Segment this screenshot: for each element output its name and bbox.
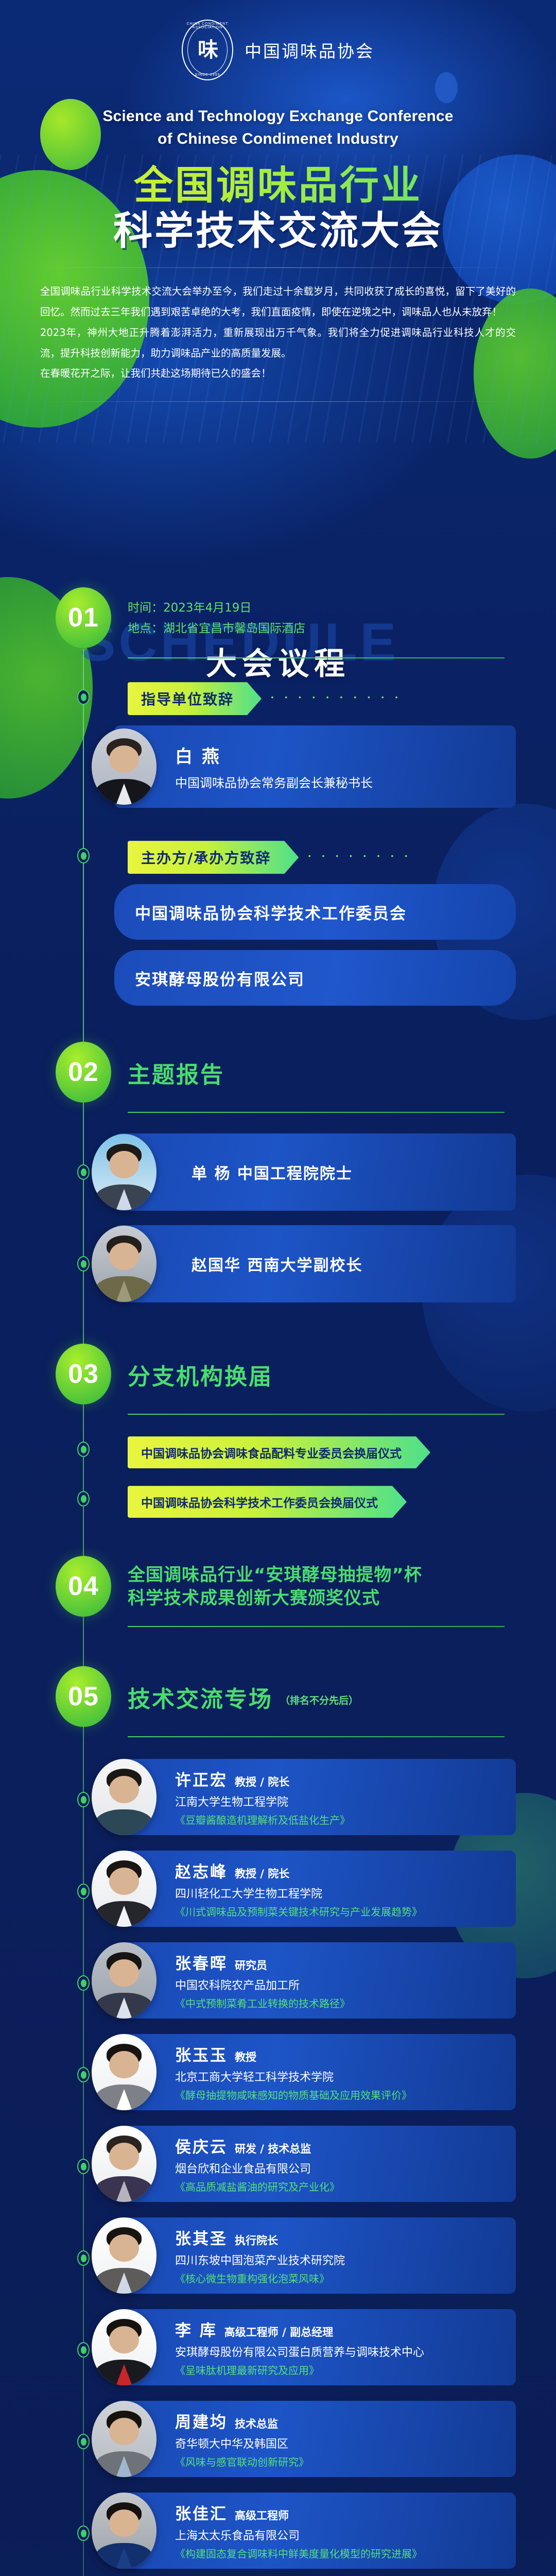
- speaker-name: 张佳汇: [175, 2501, 228, 2524]
- section-02-title: 主题报告: [128, 1056, 224, 1089]
- seal-bottom-text: SINCE 1995: [183, 73, 232, 77]
- speaker-row: 赵志峰教授 / 院长 四川轻化工大学生物工程学院 《川式调味品及预制菜关键技术研…: [0, 1851, 556, 1927]
- speaker-row: 许正宏教授 / 院长 江南大学生物工程学院 《豆瓣酱酿造机理解析及低盐化生产》: [0, 1759, 556, 1835]
- timeline-dot: [77, 689, 90, 705]
- speaker-row: 张玉玉教授 北京工商大学轻工科学技术学院 《酵母抽提物咸味感知的物质基础及应用效…: [0, 2034, 556, 2110]
- speaker-org: 奇华顿大中华及韩国区: [175, 2435, 309, 2451]
- timeline-dot: [77, 2342, 90, 2358]
- speaker-name: 张春晖: [175, 1951, 228, 1974]
- english-title-line1: Science and Technology Exchange Conferen…: [0, 105, 556, 128]
- speaker-row: 张其圣执行院长 四川东坡中国泡菜产业技术研究院 《核心微生物重构强化泡菜风味》: [0, 2217, 556, 2294]
- conference-time: 时间：2023年4月19日: [128, 598, 305, 618]
- speaker-row: 侯庆云研发 / 技术总监 烟台欣和企业食品有限公司 《高品质减盐酱油的研究及产业…: [0, 2126, 556, 2202]
- section-number-badge-03: 03: [56, 1344, 111, 1404]
- section-number-badge-04: 04: [56, 1556, 111, 1617]
- speaker-name: 张其圣: [175, 2226, 228, 2249]
- speaker-role: 教授 / 院长: [235, 1774, 289, 1789]
- speaker-role: 研发 / 技术总监: [235, 2141, 311, 2156]
- timeline-dot: [77, 1975, 90, 1991]
- branch-item-1[interactable]: 中国调味品协会调味食品配料专业委员会换届仪式: [128, 1436, 430, 1468]
- section-03-head: 03 分支机构换届: [0, 1344, 556, 1405]
- speaker-topic: 《风味与感官联动创新研究》: [175, 2454, 309, 2469]
- schedule-banner-spacer: [0, 429, 556, 527]
- speaker-topic: 《豆瓣酱酿造机理解析及低盐化生产》: [175, 1812, 350, 1827]
- agenda-timeline: 01 时间：2023年4月19日 地点：湖北省宜昌市馨岛国际酒店 指导单位致辞 …: [0, 587, 556, 2576]
- keynote-2-wrap: 赵国华 西南大学副校长: [0, 1225, 556, 1302]
- section-number-badge-01: 01: [56, 587, 111, 648]
- divider-intro-bottom: [36, 401, 520, 402]
- intro-paragraph-1: 全国调味品行业科学技术交流大会举办至今，我们走过十余载岁月，共同收获了成长的喜悦…: [40, 281, 516, 323]
- avatar: [92, 1942, 157, 2019]
- speaker-card-zhang-jiahui[interactable]: 张佳汇高级工程师 上海太太乐食品有限公司 《构建固态复合调味料中鲜美度量化模型的…: [114, 2493, 516, 2569]
- divider-top: [36, 267, 520, 268]
- speaker-info: 白 燕 中国调味品协会常务副会长兼秘书长: [175, 742, 373, 791]
- seal-glyph: 味: [198, 40, 217, 60]
- speaker-topic: 《酵母抽提物咸味感知的物质基础及应用效果评价》: [175, 2087, 412, 2102]
- section-05-head: 05 技术交流专场（排名不分先后）: [0, 1666, 556, 1728]
- speaker-org: 北京工商大学轻工科学技术学院: [175, 2068, 412, 2084]
- section-01-group-2: 主办方/承办方致辞 • • • • • • • • 中国调味品协会科学技术工作委…: [0, 841, 556, 1006]
- main-title-line2: 科学技术交流大会: [0, 207, 556, 254]
- section-01-head: 01 时间：2023年4月19日 地点：湖北省宜昌市馨岛国际酒店: [0, 587, 556, 649]
- timeline-dot: [77, 2434, 90, 2449]
- host-speech-label[interactable]: 主办方/承办方致辞: [128, 841, 299, 874]
- speaker-card-zhao-zhifeng[interactable]: 赵志峰教授 / 院长 四川轻化工大学生物工程学院 《川式调味品及预制菜关键技术研…: [114, 1851, 516, 1927]
- speaker-name: 张玉玉: [175, 2042, 228, 2065]
- speaker-card-hou-qingyun[interactable]: 侯庆云研发 / 技术总监 烟台欣和企业食品有限公司 《高品质减盐酱油的研究及产业…: [114, 2126, 516, 2202]
- main-title-line1: 全国调味品行业: [0, 163, 556, 207]
- speaker-role: 教授 / 院长: [235, 1866, 289, 1881]
- section-01-meta: 时间：2023年4月19日 地点：湖北省宜昌市馨岛国际酒店: [128, 598, 305, 639]
- section-04-head: 04 全国调味品行业“安琪酵母抽提物”杯 科学技术成果创新大赛颁奖仪式: [0, 1556, 556, 1618]
- intro-paragraph-3: 在春暖花开之际，让我们共赴这场期待已久的盛会！: [40, 363, 516, 384]
- branch-item-2-wrap: 中国调味品协会科学技术工作委员会换届仪式: [0, 1486, 556, 1518]
- speaker-role: 研究员: [235, 1957, 267, 1973]
- branch-item-1-wrap: 中国调味品协会调味食品配料专业委员会换届仪式: [0, 1436, 556, 1468]
- timeline-dot: [77, 1884, 90, 1899]
- speaker-org: 上海太太乐食品有限公司: [175, 2527, 422, 2543]
- speaker-card-xu-zhenghong[interactable]: 许正宏教授 / 院长 江南大学生物工程学院 《豆瓣酱酿造机理解析及低盐化生产》: [114, 1759, 516, 1835]
- speaker-info: 周建均技术总监 奇华顿大中华及韩国区 《风味与感官联动创新研究》: [175, 2409, 309, 2469]
- section-05-title-wrap: 技术交流专场（排名不分先后）: [128, 1681, 358, 1714]
- section-04-title-line2: 科学技术成果创新大赛颁奖仪式: [128, 1587, 422, 1611]
- speaker-info: 李 库高级工程师 / 副总经理 安琪酵母股份有限公司蛋白质营养与调味技术中心 《…: [175, 2317, 424, 2377]
- english-title-line2: of Chinese Condimenet Industry: [0, 128, 556, 150]
- speaker-card-zhou-jianjun[interactable]: 周建均技术总监 奇华顿大中华及韩国区 《风味与感官联动创新研究》: [114, 2401, 516, 2477]
- section-05-title-note: （排名不分先后）: [280, 1695, 358, 1706]
- keynote-1-wrap: 单 杨 中国工程院院士: [0, 1133, 556, 1211]
- timeline-dot: [77, 2067, 90, 2082]
- speaker-row: 张佳汇高级工程师 上海太太乐食品有限公司 《构建固态复合调味料中鲜美度量化模型的…: [0, 2493, 556, 2569]
- main-title: 全国调味品行业 科学技术交流大会: [0, 163, 556, 254]
- section-01-rule: [128, 657, 505, 658]
- association-name: 中国调味品协会: [245, 38, 374, 62]
- speaker-topic: 《呈味肽机理最新研究及应用》: [175, 2362, 424, 2377]
- avatar: [92, 1851, 157, 1927]
- section-number-badge-05: 05: [56, 1666, 111, 1727]
- speaker-info: 许正宏教授 / 院长 江南大学生物工程学院 《豆瓣酱酿造机理解析及低盐化生产》: [175, 1767, 350, 1827]
- speaker-org: 中国调味品协会常务副会长兼秘书长: [175, 773, 373, 791]
- avatar: [92, 1226, 157, 1302]
- speaker-name: 白 燕: [175, 742, 221, 768]
- keynote-text: 赵国华 西南大学副校长: [192, 1252, 362, 1275]
- speaker-topic: 《核心微生物重构强化泡菜风味》: [175, 2270, 345, 2285]
- speaker-org: 中国农科院农产品加工所: [175, 1976, 350, 1993]
- agenda-section-05: 05 技术交流专场（排名不分先后） 许正宏教授 / 院长 江南大学生物工程学院: [0, 1666, 556, 2576]
- speaker-row: 张春晖研究员 中国农科院农产品加工所 《中式预制菜肴工业转换的技术路径》: [0, 1942, 556, 2019]
- agenda-section-03: 03 分支机构换届 中国调味品协会调味食品配料专业委员会换届仪式 中国调味品协会…: [0, 1344, 556, 1518]
- seal-top-text: CHINA CONDIMENT ASSOCIATION: [183, 22, 232, 29]
- avatar: [92, 2126, 157, 2202]
- avatar: [92, 2493, 157, 2569]
- section-01-group-1: 指导单位致辞 • • • • • • • • • • 白 燕 中国调味品协会常务…: [0, 682, 556, 808]
- host-org-2[interactable]: 安琪酵母股份有限公司: [114, 950, 516, 1006]
- speaker-topic: 《中式预制菜肴工业转换的技术路径》: [175, 1995, 350, 2010]
- keynote-card-zhao-guohua[interactable]: 赵国华 西南大学副校长: [114, 1225, 516, 1302]
- speaker-org: 烟台欣和企业食品有限公司: [175, 2160, 340, 2176]
- speaker-name: 侯庆云: [175, 2134, 228, 2157]
- timeline-dot: [77, 1792, 90, 1807]
- speaker-org: 四川轻化工大学生物工程学院: [175, 1885, 422, 1901]
- avatar: [92, 2401, 157, 2477]
- guidance-speech-label[interactable]: 指导单位致辞: [128, 682, 262, 715]
- timeline-dot: [77, 1164, 90, 1180]
- intro-paragraphs: 全国调味品行业科学技术交流大会举办至今，我们走过十余载岁月，共同收获了成长的喜悦…: [40, 281, 516, 384]
- speaker-info: 张佳汇高级工程师 上海太太乐食品有限公司 《构建固态复合调味料中鲜美度量化模型的…: [175, 2501, 422, 2561]
- speaker-role: 高级工程师 / 副总经理: [224, 2324, 333, 2340]
- timeline-dot: [77, 2250, 90, 2266]
- speaker-card-zhang-qisheng[interactable]: 张其圣执行院长 四川东坡中国泡菜产业技术研究院 《核心微生物重构强化泡菜风味》: [114, 2217, 516, 2294]
- association-seal-icon: CHINA CONDIMENT ASSOCIATION 味 SINCE 1995: [182, 20, 233, 80]
- speaker-topic: 《川式调味品及预制菜关键技术研究与产业发展趋势》: [175, 1904, 422, 1919]
- section-03-rule: [128, 1414, 505, 1415]
- timeline-dot: [77, 1256, 90, 1272]
- branch-item-2[interactable]: 中国调味品协会科学技术工作委员会换届仪式: [128, 1486, 407, 1518]
- keynote-text: 单 杨 中国工程院院士: [192, 1161, 353, 1183]
- timeline-dot: [77, 848, 90, 863]
- agenda-section-04: 04 全国调味品行业“安琪酵母抽提物”杯 科学技术成果创新大赛颁奖仪式: [0, 1556, 556, 1627]
- speaker-name: 许正宏: [175, 1767, 228, 1790]
- speaker-card-li-ku[interactable]: 李 库高级工程师 / 副总经理 安琪酵母股份有限公司蛋白质营养与调味技术中心 《…: [114, 2309, 516, 2385]
- speaker-role: 教授: [235, 2049, 256, 2064]
- conference-location: 地点：湖北省宜昌市馨岛国际酒店: [128, 618, 305, 639]
- speaker-org: 四川东坡中国泡菜产业技术研究院: [175, 2251, 345, 2268]
- speaker-role: 高级工程师: [235, 2507, 289, 2523]
- speaker-name: 李 库: [175, 2317, 217, 2341]
- section-02-rule: [128, 1112, 505, 1113]
- avatar: [92, 2034, 157, 2110]
- section-05-rule: [128, 1736, 505, 1737]
- section-03-title: 分支机构换届: [128, 1358, 273, 1391]
- avatar: [92, 2217, 157, 2294]
- speaker-role: 技术总监: [235, 2416, 278, 2431]
- section-04-title-line1: 全国调味品行业“安琪酵母抽提物”杯: [128, 1564, 422, 1587]
- keynote-card-shan-yang[interactable]: 单 杨 中国工程院院士: [114, 1133, 516, 1211]
- avatar: [92, 1134, 157, 1210]
- speaker-row: 李 库高级工程师 / 副总经理 安琪酵母股份有限公司蛋白质营养与调味技术中心 《…: [0, 2309, 556, 2385]
- association-logo: CHINA CONDIMENT ASSOCIATION 味 SINCE 1995…: [0, 0, 556, 80]
- intro-paragraph-2: 2023年，神州大地正升腾着澎湃活力，重新展现出万千气象。我们将全力促进调味品行…: [40, 323, 516, 364]
- dots-trail: • • • • • • • • • •: [271, 693, 402, 701]
- avatar: [92, 728, 157, 805]
- speaker-org: 江南大学生物工程学院: [175, 1793, 350, 1809]
- timeline-dot: [77, 2526, 90, 2541]
- speaker-topic: 《高品质减盐酱油的研究及产业化》: [175, 2179, 340, 2194]
- section-04-title-wrap: 全国调味品行业“安琪酵母抽提物”杯 科学技术成果创新大赛颁奖仪式: [128, 1564, 422, 1611]
- section-03-title-wrap: 分支机构换届: [128, 1358, 273, 1391]
- section-number-badge-02: 02: [56, 1042, 111, 1103]
- dots-trail: • • • • • • • •: [308, 852, 412, 860]
- avatar: [92, 1759, 157, 1835]
- speaker-card-bai-yan[interactable]: 白 燕 中国调味品协会常务副会长兼秘书长: [114, 725, 516, 808]
- speaker-topic: 《构建固态复合调味料中鲜美度量化模型的研究进展》: [175, 2546, 422, 2561]
- avatar: [92, 2309, 157, 2385]
- speaker-role: 执行院长: [235, 2232, 278, 2248]
- speaker-row: 周建均技术总监 奇华顿大中华及韩国区 《风味与感官联动创新研究》: [0, 2401, 556, 2477]
- speaker-name: 周建均: [175, 2409, 228, 2432]
- section-05-title-text: 技术交流专场: [128, 1686, 273, 1713]
- speaker-info: 张玉玉教授 北京工商大学轻工科学技术学院 《酵母抽提物咸味感知的物质基础及应用效…: [175, 2042, 412, 2102]
- agenda-section-02: 02 主题报告 单 杨 中国工程院院士: [0, 1042, 556, 1302]
- speaker-info: 赵志峰教授 / 院长 四川轻化工大学生物工程学院 《川式调味品及预制菜关键技术研…: [175, 1859, 422, 1919]
- timeline-dot: [77, 1442, 90, 1457]
- section-02-title-wrap: 主题报告: [128, 1056, 224, 1089]
- speaker-info: 张春晖研究员 中国农科院农产品加工所 《中式预制菜肴工业转换的技术路径》: [175, 1951, 350, 2010]
- section-04-rule: [128, 1626, 505, 1627]
- section-02-head: 02 主题报告: [0, 1042, 556, 1104]
- speaker-name: 赵志峰: [175, 1859, 228, 1882]
- host-org-1[interactable]: 中国调味品协会科学技术工作委员会: [114, 884, 516, 940]
- speaker-info: 张其圣执行院长 四川东坡中国泡菜产业技术研究院 《核心微生物重构强化泡菜风味》: [175, 2226, 345, 2285]
- speaker-card-zhang-yuyu[interactable]: 张玉玉教授 北京工商大学轻工科学技术学院 《酵母抽提物咸味感知的物质基础及应用效…: [114, 2034, 516, 2110]
- agenda-section-01: 01 时间：2023年4月19日 地点：湖北省宜昌市馨岛国际酒店 指导单位致辞 …: [0, 587, 556, 1006]
- speaker-org: 安琪酵母股份有限公司蛋白质营养与调味技术中心: [175, 2343, 424, 2360]
- timeline-dot: [77, 2159, 90, 2174]
- speaker-info: 侯庆云研发 / 技术总监 烟台欣和企业食品有限公司 《高品质减盐酱油的研究及产业…: [175, 2134, 340, 2194]
- english-title: Science and Technology Exchange Conferen…: [0, 105, 556, 150]
- section-05-title: 技术交流专场（排名不分先后）: [128, 1681, 358, 1714]
- timeline-dot: [77, 1491, 90, 1506]
- speaker-card-zhang-chunhui[interactable]: 张春晖研究员 中国农科院农产品加工所 《中式预制菜肴工业转换的技术路径》: [114, 1942, 516, 2019]
